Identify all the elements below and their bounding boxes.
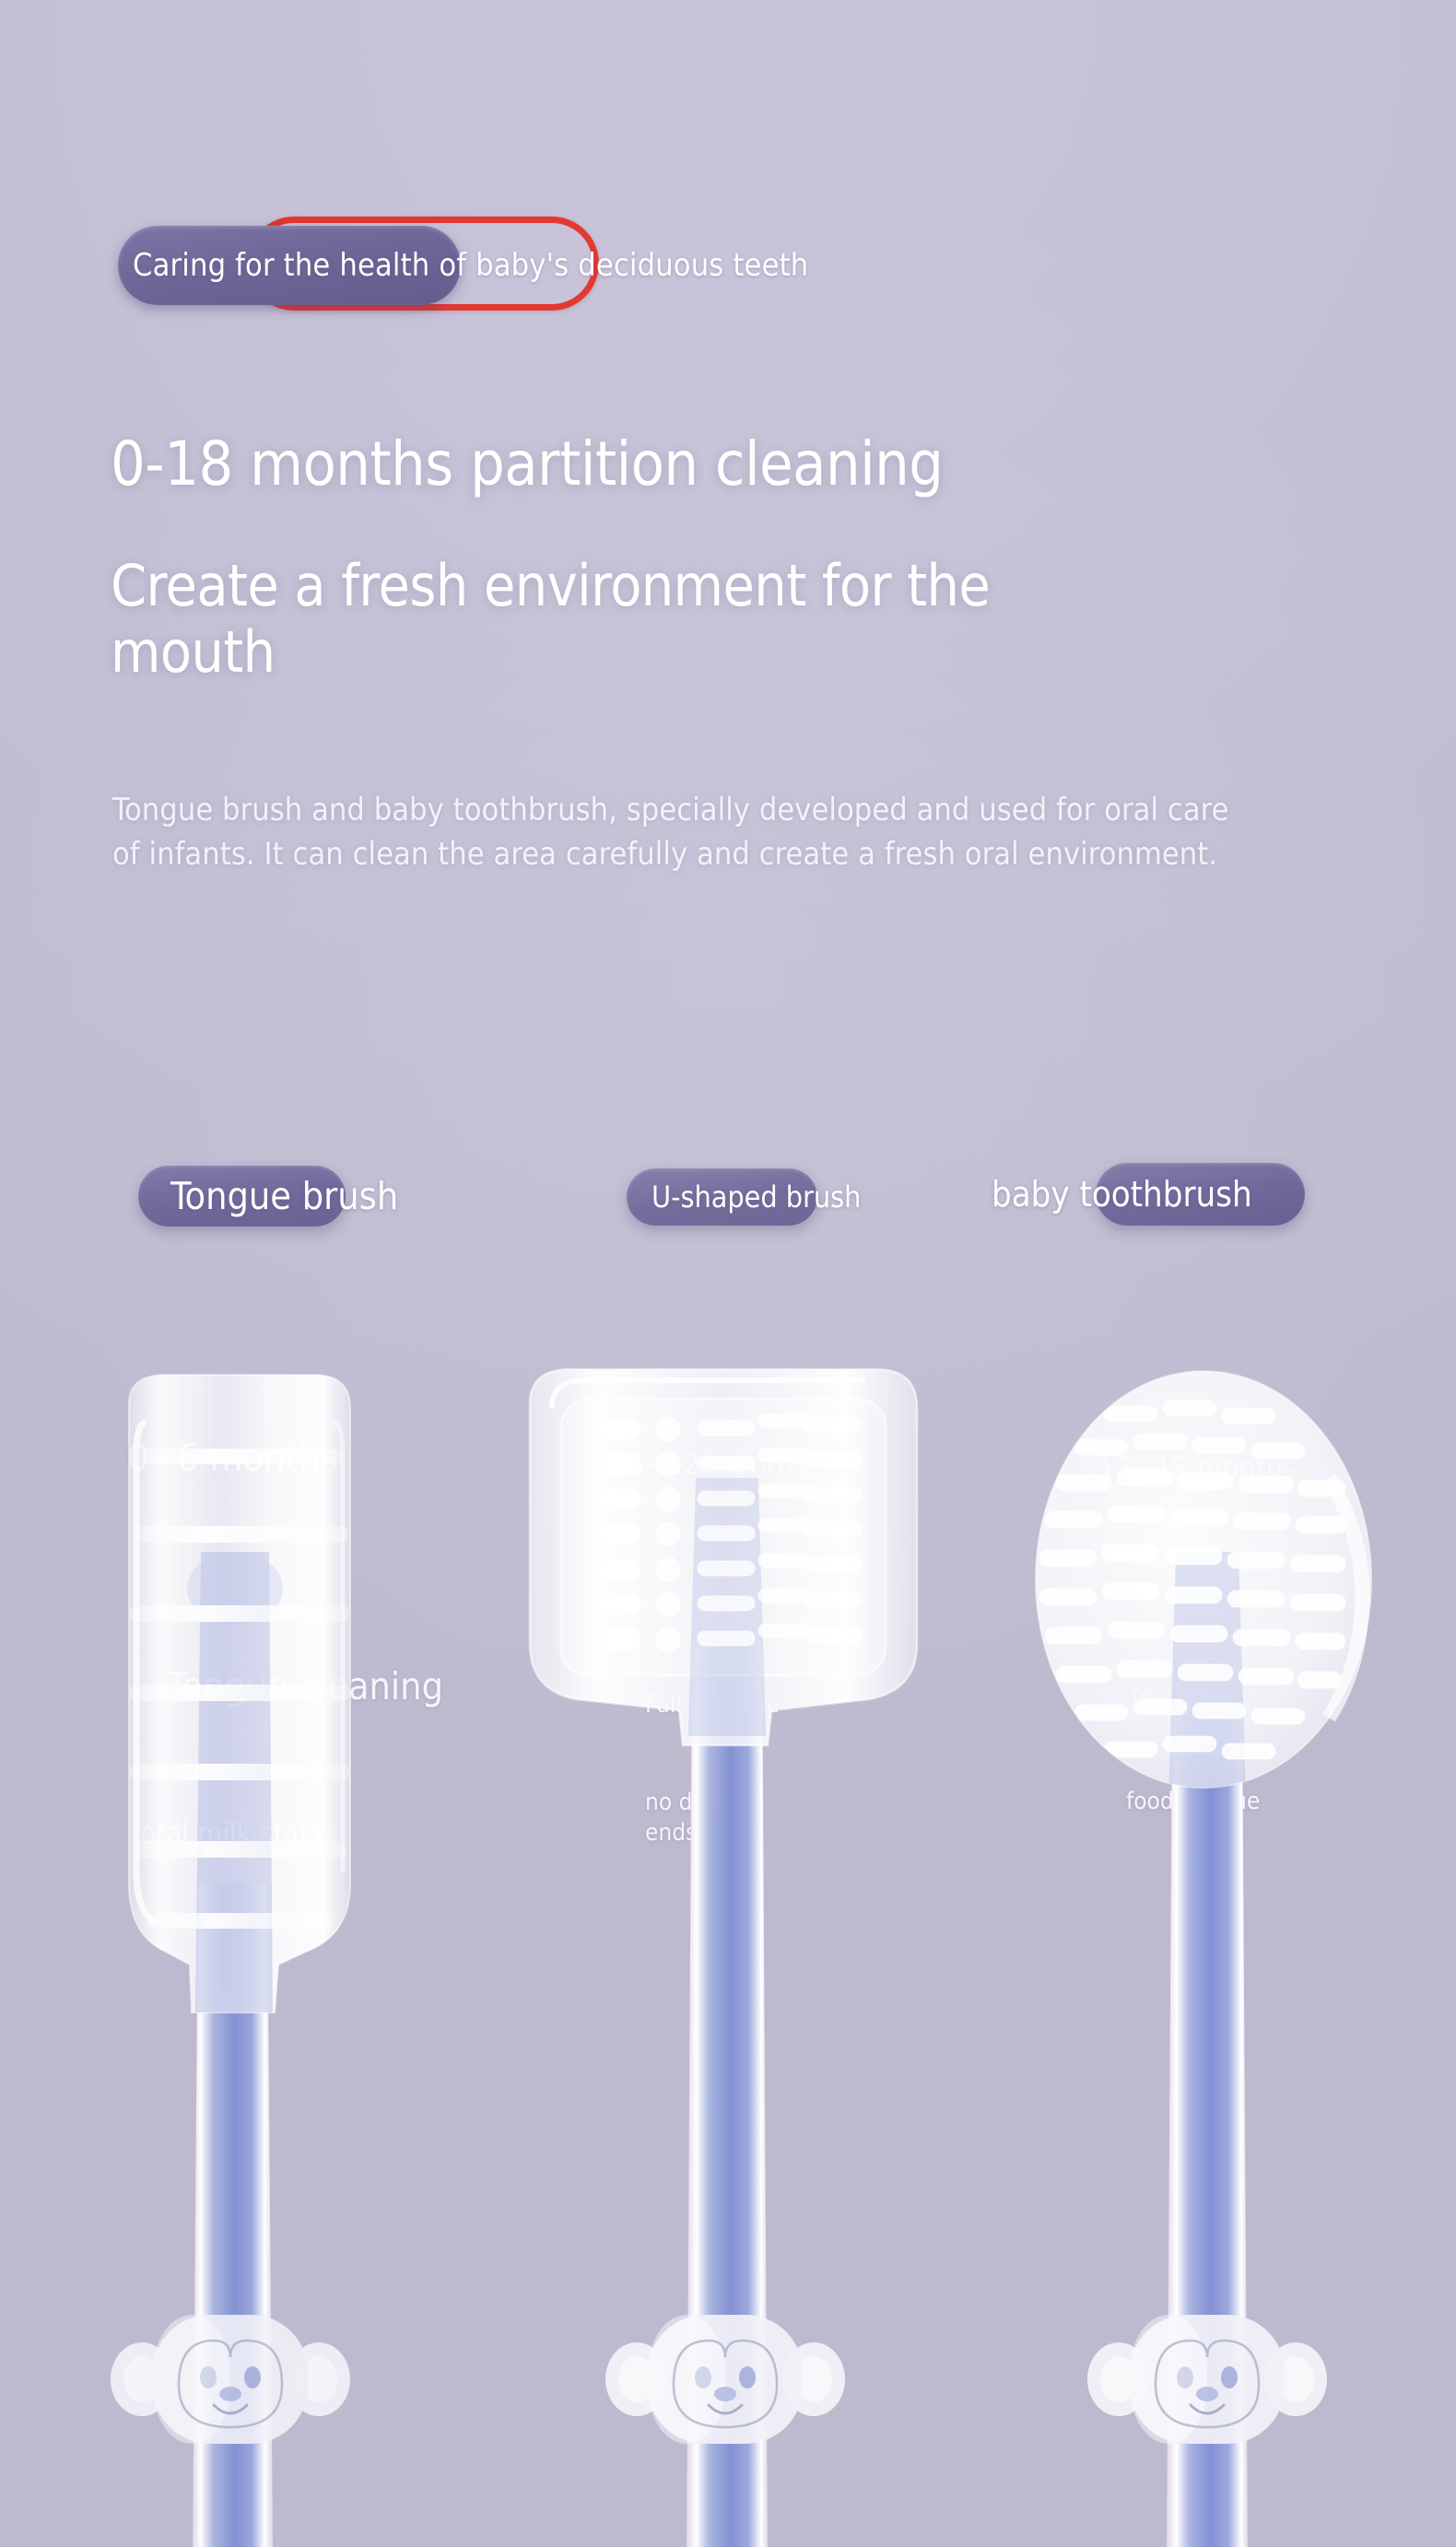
monkey-grip-ring-tongue-brush (111, 2315, 350, 2444)
brush-head-baby-toothbrush (1036, 1371, 1371, 1801)
label-tongue-brush: Tongue brush (170, 1166, 398, 1227)
brush-head-tongue-brush (129, 1375, 350, 2013)
monkey-grip-ring-baby-toothbrush (1087, 2315, 1327, 2444)
product-image-tongue-brush (37, 1367, 424, 2547)
label-baby-toothbrush: baby toothbrush (992, 1163, 1252, 1226)
brush-head-u-shaped-brush (530, 1369, 917, 1745)
product-image-u-shaped-brush (511, 1367, 935, 2547)
product-image-baby-toothbrush (1004, 1367, 1410, 2547)
product-marketing-page: Caring for the health of baby's deciduou… (0, 0, 1456, 2547)
headline-primary: 0-18 months partition cleaning (111, 433, 944, 497)
description-paragraph: Tongue brush and baby toothbrush, specia… (112, 788, 1246, 877)
headline-secondary: Create a fresh environment for the mouth (111, 553, 1115, 686)
label-u-shaped-brush: U-shaped brush (652, 1168, 861, 1226)
monkey-grip-ring-u-shaped-brush (605, 2315, 845, 2444)
badge-label: Caring for the health of baby's deciduou… (133, 226, 808, 305)
